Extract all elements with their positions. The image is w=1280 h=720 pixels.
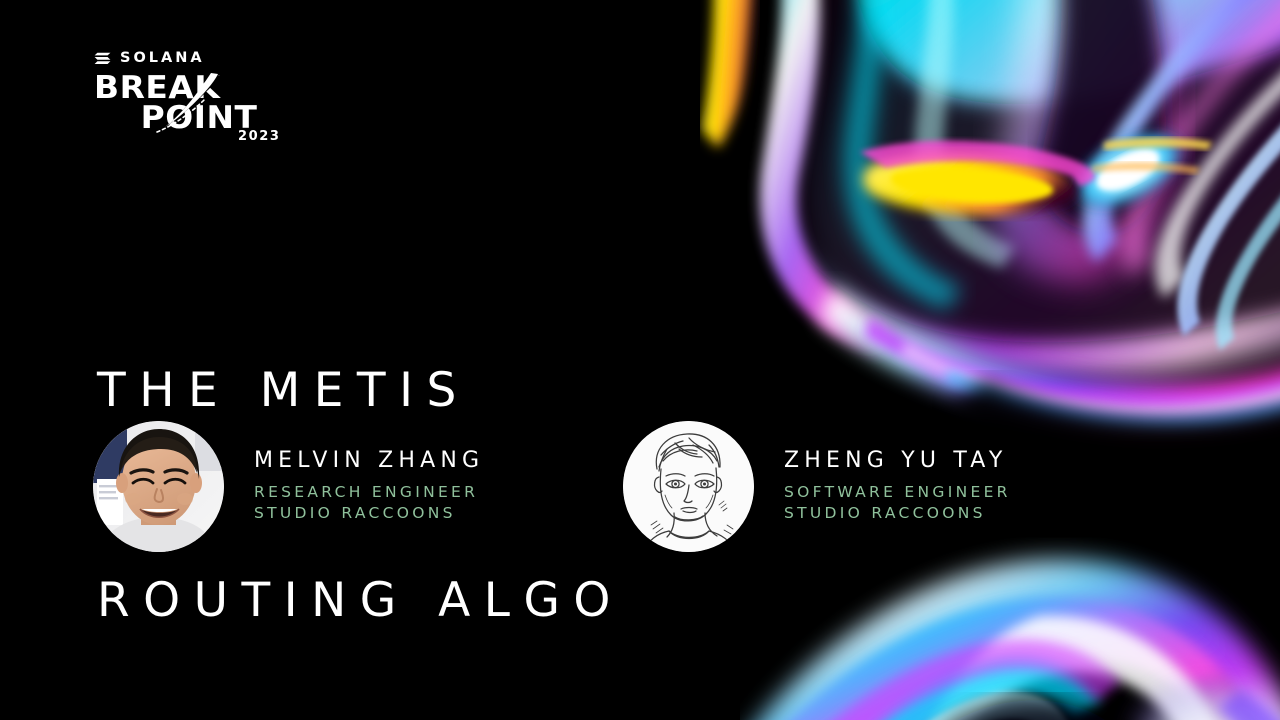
solana-wordmark: SOLANA [120,52,205,65]
speaker-card-2: ZHENG YU TAY SOFTWARE ENGINEER STUDIO RA… [623,421,1011,552]
avatar-sketch-graphic [623,421,754,552]
title-line-2: ROUTING ALGO [97,566,624,636]
presentation-slide: SOLANA BREAK POINT 2023 THE METIS ROUTIN… [0,0,1280,720]
speaker-role: SOFTWARE ENGINEER [784,482,1011,503]
svg-text:2023: 2023 [238,129,281,142]
avatar-photo-melvin-zhang [93,421,224,552]
speaker-name: MELVIN ZHANG [254,446,484,476]
solana-breakpoint-logo: SOLANA BREAK POINT 2023 [94,50,294,142]
speaker-info-1: MELVIN ZHANG RESEARCH ENGINEER STUDIO RA… [254,446,484,528]
avatar-photo-graphic [93,421,224,552]
speaker-org: STUDIO RACCOONS [784,503,1011,524]
breakpoint-wordmark: BREAK POINT 2023 [94,70,294,142]
speakers-row: MELVIN ZHANG RESEARCH ENGINEER STUDIO RA… [93,421,1093,561]
avatar-sketch-zheng-yu-tay [623,421,754,552]
solana-brand-lockup: SOLANA [94,50,294,66]
breakpoint-wordmark-graphic: BREAK POINT 2023 [94,70,294,142]
speaker-org: STUDIO RACCOONS [254,503,484,524]
speaker-info-2: ZHENG YU TAY SOFTWARE ENGINEER STUDIO RA… [784,446,1011,528]
speaker-name: ZHENG YU TAY [784,446,1011,476]
title-line-1: THE METIS [97,356,624,426]
solana-logo-mark [94,52,111,65]
speaker-card-1: MELVIN ZHANG RESEARCH ENGINEER STUDIO RA… [93,421,484,552]
speaker-role: RESEARCH ENGINEER [254,482,484,503]
